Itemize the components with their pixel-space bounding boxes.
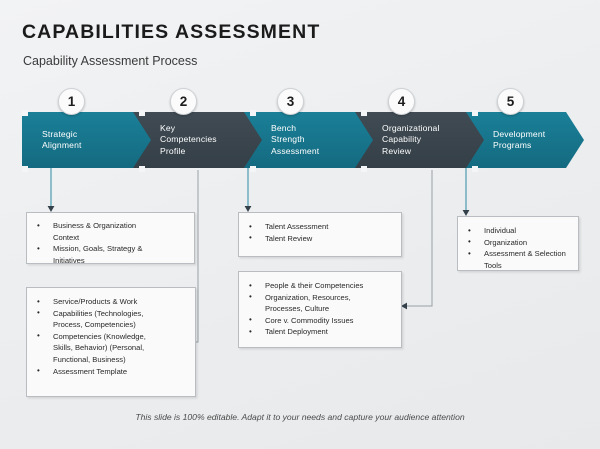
detail-box-5-list: Individual Organization Assessment & Sel… xyxy=(458,217,578,271)
detail-box-bench-strength[interactable]: Talent Assessment Talent Review xyxy=(238,212,402,257)
list-item: Organization, Resources, Processes, Cult… xyxy=(239,292,401,315)
list-item: Talent Assessment xyxy=(239,221,401,233)
list-item: Assessment & Selection Tools xyxy=(458,248,578,271)
list-item: Individual xyxy=(458,225,578,237)
list-item: Talent Deployment xyxy=(239,326,401,338)
detail-box-3-list: Talent Assessment Talent Review xyxy=(239,213,401,244)
list-item: People & their Competencies xyxy=(239,280,401,292)
list-item: Capabilities (Technologies, Process, Com… xyxy=(27,308,195,331)
list-item: Assessment Template xyxy=(27,366,195,378)
detail-box-strategic-alignment[interactable]: Business & Organization Context Mission,… xyxy=(26,212,195,264)
detail-box-organizational-capability[interactable]: People & their Competencies Organization… xyxy=(238,271,402,348)
slide-canvas: CAPABILITIES ASSESSMENT Capability Asses… xyxy=(0,0,600,449)
detail-box-1-list: Business & Organization Context Mission,… xyxy=(27,213,194,266)
list-item: Competencies (Knowledge, Skills, Behavio… xyxy=(27,331,195,366)
detail-box-4-list: People & their Competencies Organization… xyxy=(239,272,401,338)
list-item: Business & Organization Context xyxy=(27,220,194,243)
detail-box-development-programs[interactable]: Individual Organization Assessment & Sel… xyxy=(457,216,579,271)
list-item: Core v. Commodity Issues xyxy=(239,315,401,327)
list-item: Talent Review xyxy=(239,233,401,245)
detail-box-key-competencies[interactable]: Service/Products & Work Capabilities (Te… xyxy=(26,287,196,397)
list-item: Mission, Goals, Strategy & Initiatives xyxy=(27,243,194,266)
list-item: Service/Products & Work xyxy=(27,296,195,308)
footer-note: This slide is 100% editable. Adapt it to… xyxy=(0,412,600,422)
list-item: Organization xyxy=(458,237,578,249)
detail-box-2-list: Service/Products & Work Capabilities (Te… xyxy=(27,288,195,377)
